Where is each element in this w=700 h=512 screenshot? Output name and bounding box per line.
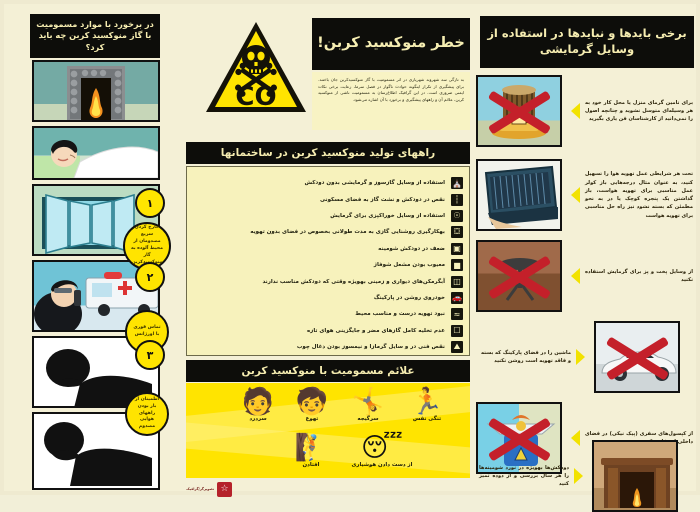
list-item-label: برای تامین گرمای منزل یا محل کار خود به … xyxy=(580,99,698,124)
list-item-label: بهکارگیری روشنایی گازی به مدت طولانی بخص… xyxy=(250,229,445,235)
list-item-label: سرگیجه xyxy=(340,416,396,422)
symptoms-section-header: علائم مسمومیت با منوکسید کربن xyxy=(186,360,470,382)
list-item: ☉ استفاده از وسایل خوراکپزی برای گرمایش xyxy=(193,208,463,224)
list-item: تحت هر شرایطی عمل تهویه هوا را تسهیل کنی… xyxy=(476,156,698,234)
fireplace-chimney-illustration xyxy=(592,440,678,512)
list-item-label: نقص فنی در و سایل گرمازا و نیمسوز بودن ذ… xyxy=(297,344,445,350)
prohibited-x-icon xyxy=(596,323,678,391)
causes-section-header: راههای تولید منوکسید کربن در ساختمانها xyxy=(186,142,470,164)
list-item: ☐ عدم تخلیه کامل گازهای مضر و جایگزینی ه… xyxy=(193,323,463,339)
list-item: 😴 از دست دادن هوشیاری xyxy=(342,435,422,468)
headache-figure-icon: 🧑 xyxy=(232,389,284,415)
list-item-label: ماشین را در فضای پارکینگ که بسته و فاقد … xyxy=(476,349,576,366)
chevron-left-icon xyxy=(562,268,580,284)
list-item-label: استفاده از وسایل گازسوز و گرمایشی بدون د… xyxy=(304,180,445,186)
chevron-left-icon xyxy=(562,103,580,119)
publisher-logo-label: تصویرگر/گرافیک xyxy=(186,487,214,492)
step-number-2: ۲ xyxy=(135,262,165,292)
stone-fireplace-illustration xyxy=(32,60,160,122)
list-item-label: معیوب بودن مشعل شوفاژ xyxy=(374,262,445,268)
step-number-1: ۱ xyxy=(135,188,165,218)
right-column: برخی بایدها و نبایدها در استفاده از وسای… xyxy=(476,10,698,493)
right-column-title: برخی بایدها و نبایدها در استفاده از وسای… xyxy=(480,16,694,68)
list-item: برای تامین گرمای منزل یا محل کار خود به … xyxy=(476,72,698,150)
list-item-label: افتادن xyxy=(282,462,340,468)
sleeping-man-in-bed-illustration xyxy=(32,126,160,180)
list-item: ▣ ضعف در دودکش شومینه xyxy=(193,241,463,257)
step-3-bubble: اطمینان از باز بودن راههای هوایی مصدوم xyxy=(125,392,169,436)
list-item-label: خودروی روشن در پارکینگ xyxy=(374,295,445,301)
list-item: 🏃 تنگی نفس xyxy=(398,389,456,422)
list-item-label: از وسایل پخت و پز برای گرمایش استفاده نک… xyxy=(580,268,698,285)
news-agency-logo-icon: ☆ xyxy=(217,482,232,497)
list-item-label: تهوع xyxy=(286,416,338,422)
left-column: در برخورد با موارد مسمومیت با گاز منوکسی… xyxy=(10,10,162,493)
kerosene-heater-illustration xyxy=(476,75,562,147)
causes-list: ⛪ استفاده از وسایل گازسوز و گرمایشی بدون… xyxy=(186,166,470,356)
list-item: دودکش‌ها بهویژه در نورد شومینه‌ها را هر … xyxy=(474,422,696,494)
fireplace-shape-icon xyxy=(61,62,131,120)
chevron-left-icon xyxy=(562,187,580,203)
list-item-label: آبگرمکن‌های دیواری و زمینی بهویژه وقتی ک… xyxy=(262,279,445,285)
list-item: 🚗 خودروی روشن در پارکینگ xyxy=(193,290,463,306)
window-ventilation-illustration xyxy=(476,159,562,231)
unconscious-figure-icon: 😴 xyxy=(342,435,422,461)
list-item-label: استفاده از وسایل خوراکپزی برای گرمایش xyxy=(330,213,445,219)
infographic-poster: در برخورد با موارد مسمومیت با گاز منوکسی… xyxy=(0,0,700,495)
list-item: ◫ آبگرمکن‌های دیواری و زمینی بهویژه وقتی… xyxy=(193,273,463,289)
left-column-title: در برخورد با موارد مسمومیت با گاز منوکسی… xyxy=(30,14,160,58)
list-item-label: نقص در دودکش و نشت گاز به فضای مسکونی xyxy=(320,197,445,203)
boiler-burner-icon: ■ xyxy=(451,259,463,271)
cooking-stove-illustration xyxy=(476,240,562,312)
fireplace-icon: ▣ xyxy=(451,243,463,255)
ornate-fireplace-icon xyxy=(598,452,676,508)
chevron-right-icon xyxy=(574,468,592,484)
car-icon: 🚗 xyxy=(451,292,463,304)
gas-lamp-icon: ⛋ xyxy=(451,226,463,238)
list-item: ⛰ نقص فنی در و سایل گرمازا و نیمسوز بودن… xyxy=(193,339,463,355)
prohibited-x-icon xyxy=(478,77,560,145)
warning-triangle-icon: CO xyxy=(202,18,310,118)
list-item-label: از دست دادن هوشیاری xyxy=(342,462,422,468)
air-conditioner-icon xyxy=(478,161,562,231)
list-item: ■ معیوب بودن مشعل شوفاژ xyxy=(193,257,463,273)
list-item: از وسایل پخت و پز برای گرمایش استفاده نک… xyxy=(476,240,698,312)
car-in-garage-illustration xyxy=(594,321,680,393)
gas-heater-icon: ⛪ xyxy=(451,177,463,189)
sleeping-person-icon xyxy=(34,128,158,178)
list-item-label: دودکش‌ها بهویژه در نورد شومینه‌ها را هر … xyxy=(474,464,574,489)
list-item-label: تحت هر شرایطی عمل تهویه هوا را تسهیل کنی… xyxy=(580,170,698,220)
chimney-pipe-icon: ┆ xyxy=(451,194,463,206)
co-warning-sign: CO xyxy=(202,18,310,118)
publisher-logo: ☆ تصویرگر/گرافیک xyxy=(168,480,232,498)
chevron-right-icon xyxy=(576,349,594,365)
co-sign-label: CO xyxy=(235,82,276,112)
list-item: ≈ نبود تهویه درست و مناسب محیط xyxy=(193,306,463,322)
collapsing-figure-icon: 🧗 xyxy=(282,435,340,461)
list-item: ┆ نقص در دودکش و نشت گاز به فضای مسکونی xyxy=(193,191,463,207)
charcoal-grill-icon: ⛰ xyxy=(451,341,463,353)
water-heater-icon: ◫ xyxy=(451,276,463,288)
dizziness-figure-icon: 🤸 xyxy=(340,389,396,415)
list-item: ⛋ بهکارگیری روشنایی گازی به مدت طولانی ب… xyxy=(193,224,463,240)
intro-paragraph: به تازگی سه شهروند شهریاری در اثر مسمومی… xyxy=(312,72,470,130)
prohibited-x-icon xyxy=(478,242,560,310)
list-item: ▧ نقص فنی در شبکه تهویه (لولهکشی آبگرمکن… xyxy=(193,355,463,356)
list-item-label: تنگی نفس xyxy=(398,416,456,422)
center-column: CO خطر منوکسید کربن! به تازگی سه شهروند … xyxy=(164,10,474,493)
vomiting-figure-icon: 🧒 xyxy=(286,389,338,415)
airflow-icon: ≈ xyxy=(451,308,463,320)
list-item: ماشین را در فضای پارکینگ که بسته و فاقد … xyxy=(476,318,698,396)
shortness-of-breath-figure-icon: 🏃 xyxy=(398,389,456,415)
list-item-label: نبود تهویه درست و مناسب محیط xyxy=(355,311,445,317)
list-item-label: عدم تخلیه کامل گازهای مضر و جایگزینی هوا… xyxy=(307,328,445,334)
list-item: 🤸 سرگیجه xyxy=(340,389,396,422)
step-number-3: ۳ xyxy=(135,340,165,370)
window-icon: ☐ xyxy=(451,325,463,337)
list-item: ⛪ استفاده از وسایل گازسوز و گرمایشی بدون… xyxy=(193,175,463,191)
list-item-label: سردرد xyxy=(232,416,284,422)
list-item: 🧒 تهوع xyxy=(286,389,338,422)
list-item: 🧑 سردرد xyxy=(232,389,284,422)
list-item-label: ضعف در دودکش شومینه xyxy=(378,246,445,252)
gas-burner-icon: ☉ xyxy=(451,210,463,222)
list-item: 🧗 افتادن xyxy=(282,435,340,468)
symptoms-list: 🧑 سردرد 🧒 تهوع 🤸 سرگیجه 🏃 تنگی نفس 🧗 افت… xyxy=(186,383,470,478)
page-title: خطر منوکسید کربن! xyxy=(312,18,470,70)
